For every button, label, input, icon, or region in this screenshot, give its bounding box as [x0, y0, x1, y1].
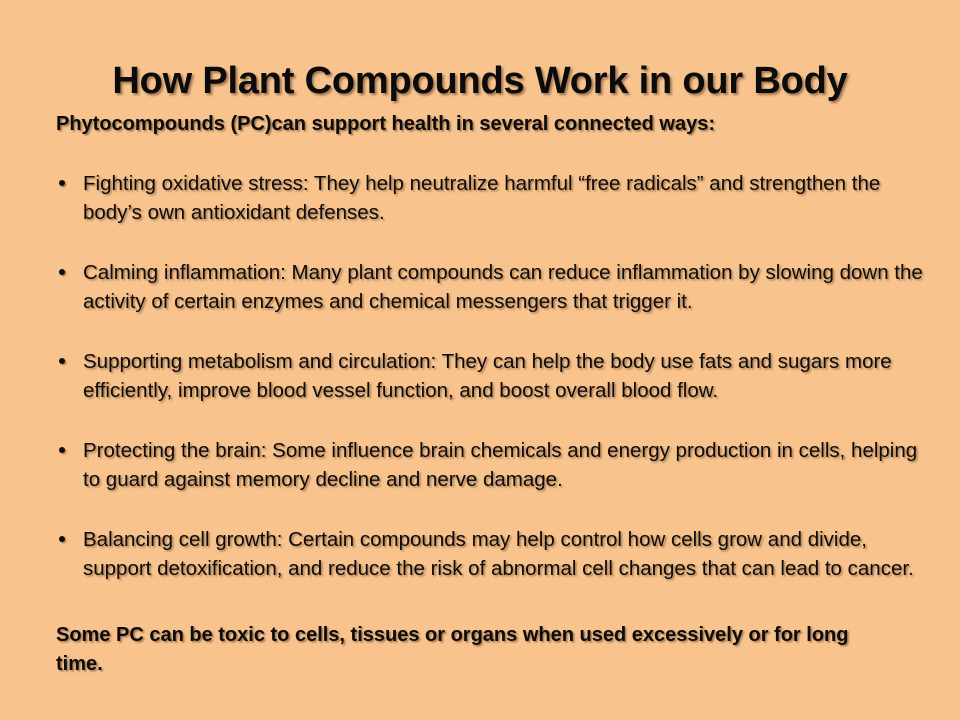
list-item: Protecting the brain: Some influence bra…: [56, 436, 924, 494]
bullet-dot-icon: [59, 447, 65, 453]
list-item-text: Calming inflammation: Many plant compoun…: [83, 258, 924, 316]
list-item-text: Protecting the brain: Some influence bra…: [83, 436, 924, 494]
lead-paragraph: Phytocompounds (PC)can support health in…: [56, 110, 924, 138]
list-item-text: Balancing cell growth: Certain compounds…: [83, 525, 924, 583]
bullet-dot-icon: [59, 269, 65, 275]
bullet-dot-icon: [59, 180, 65, 186]
list-item: Supporting metabolism and circulation: T…: [56, 347, 924, 405]
bullet-dot-icon: [59, 358, 65, 364]
list-item: Calming inflammation: Many plant compoun…: [56, 258, 924, 316]
list-item-text: Supporting metabolism and circulation: T…: [83, 347, 924, 405]
list-item-text: Fighting oxidative stress: They help neu…: [83, 169, 924, 227]
list-item: Fighting oxidative stress: They help neu…: [56, 169, 924, 227]
bullet-dot-icon: [59, 536, 65, 542]
closing-note: Some PC can be toxic to cells, tissues o…: [56, 621, 876, 679]
slide-canvas: How Plant Compounds Work in our Body Phy…: [0, 0, 960, 720]
slide-body: Phytocompounds (PC)can support health in…: [56, 110, 924, 679]
list-item: Balancing cell growth: Certain compounds…: [56, 525, 924, 583]
page-title: How Plant Compounds Work in our Body: [0, 58, 960, 104]
bullet-list: Fighting oxidative stress: They help neu…: [56, 169, 924, 583]
